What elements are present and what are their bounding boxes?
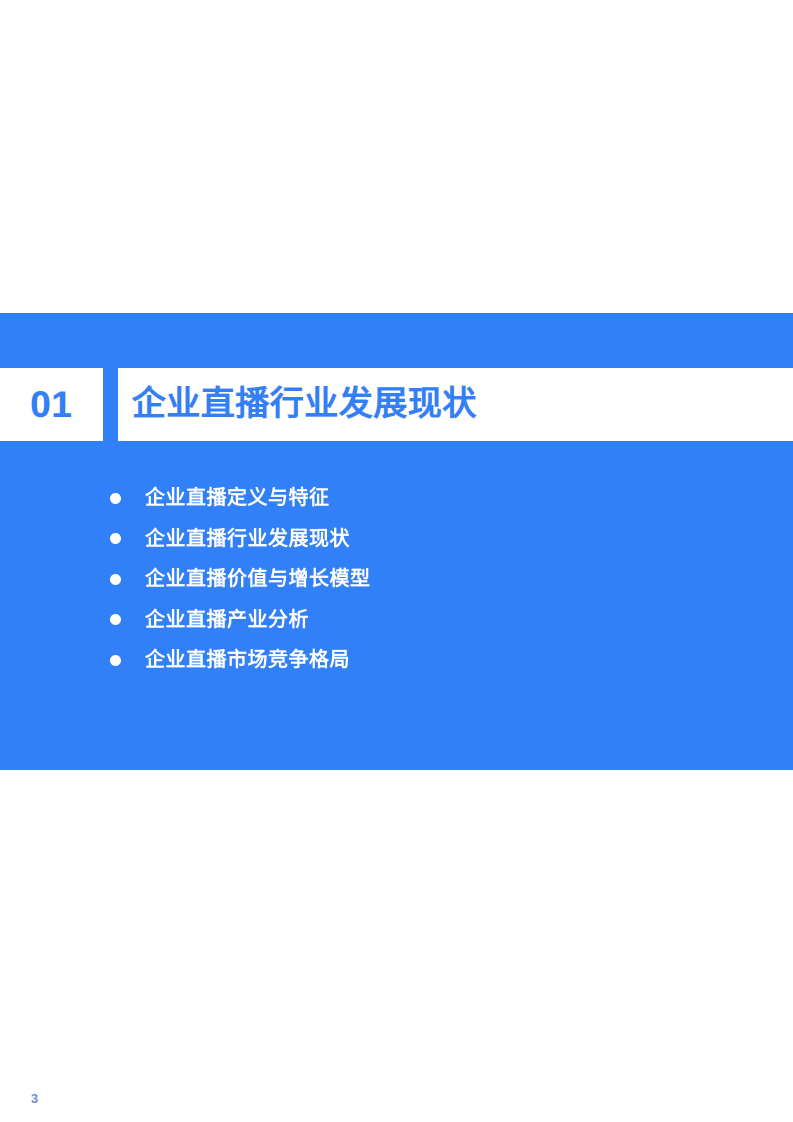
list-item[interactable]: 企业直播价值与增长模型 xyxy=(110,559,371,600)
section-title-box: 企业直播行业发展现状 xyxy=(118,368,793,441)
filled-circle-bullet-icon xyxy=(110,493,121,504)
list-item-label: 企业直播行业发展现状 xyxy=(145,529,350,549)
list-item[interactable]: 企业直播产业分析 xyxy=(110,600,371,641)
filled-circle-bullet-icon xyxy=(110,533,121,544)
section-divider-panel: 01 企业直播行业发展现状 企业直播定义与特征 企业直播行业发展现状 企业直播价… xyxy=(0,313,793,770)
page-title: 企业直播行业发展现状 xyxy=(132,387,477,423)
list-item-label: 企业直播价值与增长模型 xyxy=(145,569,371,589)
list-item-label: 企业直播定义与特征 xyxy=(145,488,330,508)
title-band-divider-gap xyxy=(103,368,118,441)
section-title-band: 01 企业直播行业发展现状 xyxy=(0,368,793,441)
list-item[interactable]: 企业直播市场竞争格局 xyxy=(110,640,371,681)
page-number: 3 xyxy=(31,1092,38,1105)
section-number-box: 01 xyxy=(0,368,103,441)
list-item[interactable]: 企业直播定义与特征 xyxy=(110,478,371,519)
list-item[interactable]: 企业直播行业发展现状 xyxy=(110,519,371,560)
section-topic-list: 企业直播定义与特征 企业直播行业发展现状 企业直播价值与增长模型 企业直播产业分… xyxy=(110,478,371,681)
section-number: 01 xyxy=(30,386,72,423)
filled-circle-bullet-icon xyxy=(110,574,121,585)
filled-circle-bullet-icon xyxy=(110,655,121,666)
list-item-label: 企业直播产业分析 xyxy=(145,610,309,630)
filled-circle-bullet-icon xyxy=(110,614,121,625)
list-item-label: 企业直播市场竞争格局 xyxy=(145,650,350,670)
